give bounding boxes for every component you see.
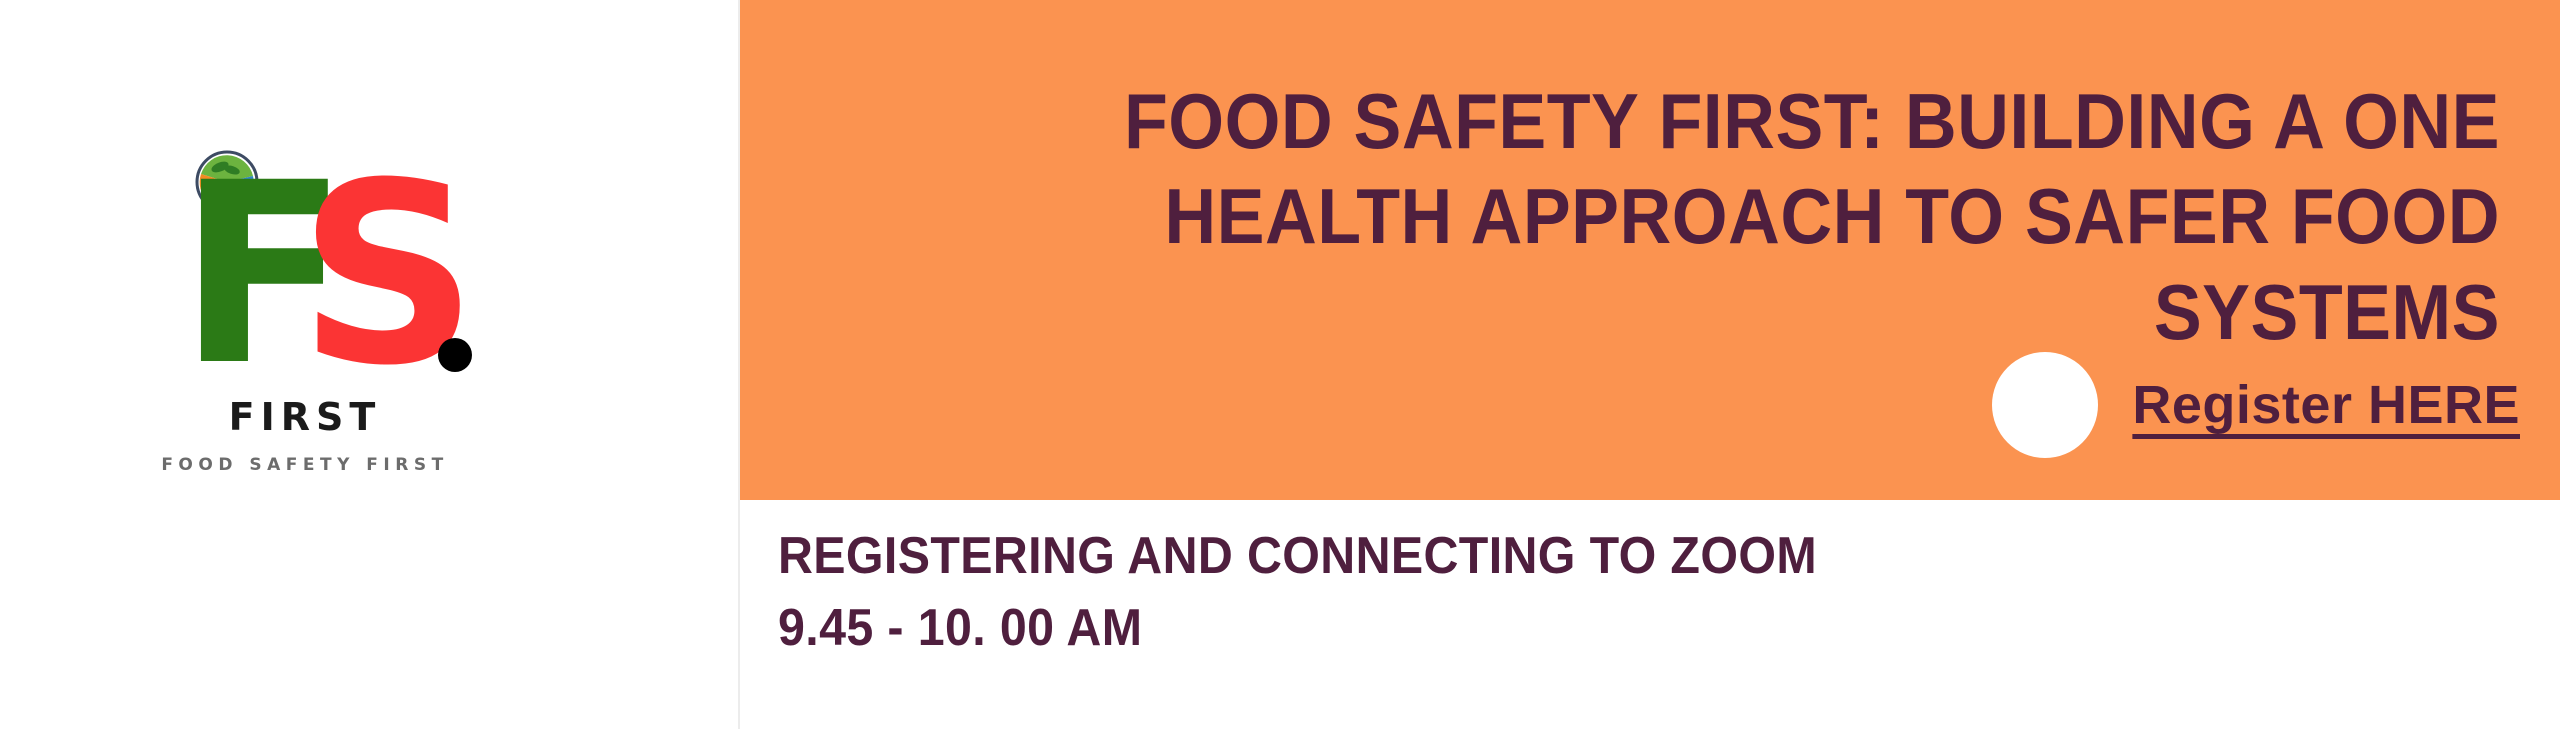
register-row: Register HERE — [740, 352, 2520, 458]
logo-tagline: FOOD SAFETY FIRST — [130, 455, 480, 475]
logo-period-dot-icon — [438, 338, 472, 372]
session-caption-area: REGISTERING AND CONNECTING TO ZOOM 9.45 … — [740, 500, 2560, 729]
session-time: 9.45 - 10. 00 AM — [778, 598, 1142, 658]
session-title: REGISTERING AND CONNECTING TO ZOOM — [778, 526, 1817, 586]
banner-stage: F S FIRST FOOD SAFETY FIRST FOOD SAFETY … — [0, 0, 2560, 729]
fs-monogram: F S — [150, 172, 460, 412]
hero-panel: FOOD SAFETY FIRST: BUILDING A ONE HEALTH… — [740, 0, 2560, 500]
register-here-link[interactable]: Register HERE — [2132, 374, 2520, 436]
logo-wordmark: FIRST — [150, 395, 460, 439]
logo-column: F S FIRST FOOD SAFETY FIRST — [0, 0, 738, 729]
page-title-line-3: SYSTEMS — [881, 265, 2500, 360]
register-bullet-icon — [1992, 352, 2098, 458]
page-title: FOOD SAFETY FIRST: BUILDING A ONE HEALTH… — [881, 74, 2500, 359]
food-safety-first-logo: F S FIRST FOOD SAFETY FIRST — [150, 150, 610, 550]
page-title-line-2: HEALTH APPROACH TO SAFER FOOD — [881, 169, 2500, 264]
page-title-line-1: FOOD SAFETY FIRST: BUILDING A ONE — [881, 74, 2500, 169]
